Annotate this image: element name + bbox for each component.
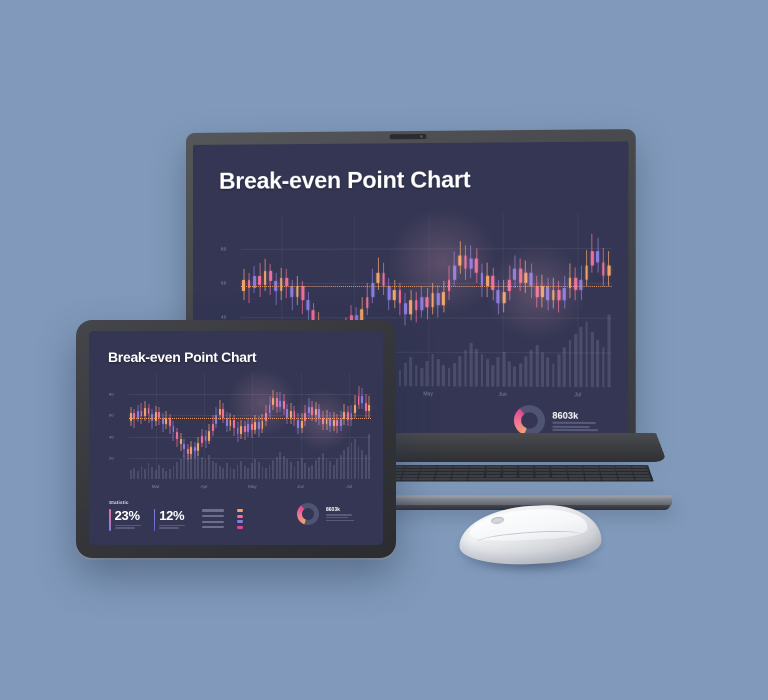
candle-body <box>262 421 264 429</box>
candle-body <box>580 279 583 289</box>
candlestick <box>464 214 467 387</box>
candlestick <box>459 214 462 387</box>
candle-body <box>426 297 429 307</box>
candle-body <box>155 412 157 420</box>
candlestick <box>155 373 157 479</box>
keyboard-key[interactable] <box>421 466 436 468</box>
candle-body <box>315 409 317 415</box>
keyboard-key[interactable] <box>569 478 585 480</box>
x-axis-label: Jul <box>574 392 581 398</box>
keyboard-key[interactable] <box>405 466 420 468</box>
candlestick <box>318 373 320 479</box>
candle-body <box>420 297 423 311</box>
keyboard-key[interactable] <box>583 466 598 468</box>
candlestick <box>607 213 610 387</box>
candle-body <box>222 409 224 417</box>
candlestick <box>437 214 440 386</box>
candlestick <box>333 373 335 479</box>
stat-accent-bar <box>109 509 111 531</box>
candle-body <box>208 431 210 441</box>
candle-body <box>382 273 385 287</box>
candle-body <box>318 409 320 417</box>
candlestick <box>262 373 264 479</box>
keyboard-key[interactable] <box>502 475 517 477</box>
candle-body <box>290 286 293 296</box>
candlestick <box>290 373 292 479</box>
candlestick <box>497 214 500 387</box>
webcam-icon <box>390 134 427 139</box>
candlestick <box>442 214 445 386</box>
candlestick <box>269 373 271 479</box>
legend-item <box>202 520 243 523</box>
candle-body <box>176 432 178 438</box>
keyboard-key[interactable] <box>435 478 451 480</box>
keyboard-key[interactable] <box>419 475 435 477</box>
keyboard-key[interactable] <box>632 469 648 471</box>
candle-body <box>264 271 267 285</box>
candle-body <box>409 300 412 314</box>
keyboard-key[interactable] <box>468 478 567 480</box>
candle-body <box>296 286 299 296</box>
candle-body <box>393 290 396 300</box>
keyboard-key[interactable] <box>632 466 648 468</box>
candle-body <box>336 420 338 426</box>
candle-body <box>280 278 283 292</box>
keyboard-key[interactable] <box>453 472 468 474</box>
candle-body <box>197 443 199 451</box>
keyboard-key[interactable] <box>421 469 436 471</box>
candlestick <box>591 213 594 387</box>
candle-body <box>371 283 374 297</box>
candle-body <box>574 278 577 290</box>
candle-body <box>377 273 380 283</box>
candlestick <box>201 373 203 479</box>
candle-body <box>276 398 278 406</box>
candlestick <box>552 213 555 387</box>
donut-summary: 8603k <box>514 405 598 436</box>
keyboard-key[interactable] <box>618 475 634 477</box>
candlestick <box>141 373 143 479</box>
candle-body <box>453 266 456 280</box>
candlestick <box>265 373 267 479</box>
candle-body <box>459 255 462 265</box>
keyboard-key[interactable] <box>453 469 468 471</box>
candlestick <box>226 373 228 479</box>
candle-body <box>190 447 192 453</box>
keyboard-key[interactable] <box>600 469 615 471</box>
candle-body <box>358 396 360 404</box>
keyboard-key[interactable] <box>486 466 501 468</box>
keyboard-key[interactable] <box>454 466 469 468</box>
candlestick <box>272 373 274 479</box>
candlestick <box>415 214 418 386</box>
candle-body <box>480 273 483 287</box>
keyboard-key[interactable] <box>470 466 485 468</box>
candlestick <box>173 373 175 479</box>
candlestick <box>361 373 363 479</box>
keyboard-key[interactable] <box>567 469 582 471</box>
candle-body <box>286 409 288 417</box>
keyboard-key[interactable] <box>438 466 453 468</box>
candlestick <box>297 373 299 479</box>
donut-chart-icon <box>297 503 319 525</box>
x-axis-label: Jul <box>346 484 352 489</box>
candlestick <box>541 214 544 387</box>
candlestick <box>546 213 549 386</box>
keyboard-key[interactable] <box>615 466 630 468</box>
keyboard-key[interactable] <box>436 475 452 477</box>
keyboard-key[interactable] <box>552 475 567 477</box>
legend-dot <box>237 526 243 529</box>
keyboard-key[interactable] <box>469 475 484 477</box>
candlestick <box>602 213 605 387</box>
legend-label <box>202 526 224 528</box>
candlestick <box>399 214 402 386</box>
candlestick <box>240 373 242 479</box>
keyboard-row <box>388 469 648 471</box>
candle-body <box>311 407 313 415</box>
candle-body <box>535 286 538 296</box>
candlestick <box>180 373 182 479</box>
candlestick <box>194 373 196 479</box>
candle-body <box>415 300 418 310</box>
x-axis-label: May <box>423 391 433 397</box>
candlestick <box>535 214 538 387</box>
candle-body <box>475 259 478 273</box>
keyboard-key[interactable] <box>469 472 484 474</box>
breakeven-line <box>129 418 371 419</box>
candlestick <box>343 373 345 479</box>
candlestick <box>286 373 288 479</box>
keyboard-key[interactable] <box>418 478 434 480</box>
keyboard-key[interactable] <box>519 466 534 468</box>
donut-value: 8603k <box>326 507 354 513</box>
candle-body <box>233 420 235 428</box>
legend-dot <box>237 515 243 518</box>
keyboard-key[interactable] <box>485 475 500 477</box>
keyboard-key[interactable] <box>535 472 550 474</box>
keyboard-key[interactable] <box>551 466 566 468</box>
keyboard-key[interactable] <box>599 466 614 468</box>
candlestick <box>133 373 135 479</box>
candle-wick <box>134 409 135 428</box>
candlestick <box>453 214 456 387</box>
candlestick <box>237 373 239 479</box>
legend-dot <box>237 520 243 523</box>
candlestick <box>151 373 153 479</box>
candle-body <box>308 407 310 413</box>
candlestick <box>513 214 516 387</box>
stat-accent-bar <box>154 509 156 531</box>
candle-body <box>329 418 331 426</box>
candlestick <box>215 373 217 479</box>
candlestick <box>294 373 296 479</box>
legend-item <box>202 509 243 512</box>
keyboard-key[interactable] <box>551 472 566 474</box>
candlestick <box>205 373 207 479</box>
candle-body <box>297 420 299 428</box>
keyboard-key[interactable] <box>634 475 650 477</box>
candlestick <box>365 373 367 479</box>
candlestick <box>340 373 342 479</box>
candlestick <box>347 373 349 479</box>
legend-item <box>202 526 243 529</box>
keyboard-key[interactable] <box>486 472 501 474</box>
candlestick <box>208 373 210 479</box>
keyboard-key[interactable] <box>502 466 517 468</box>
page-title: Break-even Point Chart <box>219 166 470 195</box>
candle-body <box>219 409 221 415</box>
keyboard-row <box>387 472 649 474</box>
keyboard-key[interactable] <box>436 472 451 474</box>
tablet-screen: Break-even Point Chart 80604020MarAprMay… <box>89 331 383 545</box>
keyboard-key[interactable] <box>568 472 583 474</box>
keyboard-key[interactable] <box>567 466 582 468</box>
candle-body <box>437 293 440 305</box>
candle-body <box>258 276 261 285</box>
keyboard-key[interactable] <box>585 478 601 480</box>
keyboard-key[interactable] <box>486 469 501 471</box>
candle-wick <box>248 273 249 304</box>
candlestick <box>368 373 370 479</box>
y-axis-label: 60 <box>221 280 226 285</box>
candle-body <box>141 411 143 416</box>
candlestick <box>251 373 253 479</box>
candlestick <box>308 373 310 479</box>
candlestick <box>426 214 429 386</box>
candlestick <box>469 214 472 387</box>
candle-body <box>442 292 445 306</box>
keyboard-key[interactable] <box>502 472 517 474</box>
candlestick <box>558 213 561 387</box>
candle-body <box>596 252 599 262</box>
candle-body <box>552 290 555 300</box>
x-axis-label: Apr <box>201 484 208 489</box>
donut-chart-icon <box>514 405 545 436</box>
candle-body <box>365 403 367 411</box>
candle-body <box>333 420 335 426</box>
keyboard-key[interactable] <box>602 478 618 480</box>
y-axis-label: 80 <box>221 246 226 251</box>
keyboard-key[interactable] <box>519 472 534 474</box>
keyboard-row <box>386 475 651 477</box>
keyboard-key[interactable] <box>601 472 617 474</box>
candle-body <box>144 408 146 416</box>
tablet-device: Break-even Point Chart 80604020MarAprMay… <box>76 320 396 558</box>
candlestick <box>233 373 235 479</box>
candlestick <box>486 214 489 387</box>
keyboard-key[interactable] <box>519 475 534 477</box>
candle-body <box>269 405 271 413</box>
keyboard-key[interactable] <box>601 475 617 477</box>
keyboard-key[interactable] <box>617 472 633 474</box>
candlestick <box>148 373 150 479</box>
keyboard-key[interactable] <box>452 478 468 480</box>
candlestick <box>169 373 171 479</box>
legend-label <box>202 509 224 511</box>
candle-body <box>173 426 175 432</box>
candle-body <box>272 398 274 404</box>
candlestick <box>354 373 356 479</box>
candlestick <box>409 214 412 386</box>
candle-body <box>524 272 527 282</box>
candle-body <box>404 304 407 314</box>
candle-body <box>205 436 207 441</box>
candle-body <box>226 418 228 426</box>
keyboard-key[interactable] <box>403 472 419 474</box>
candlestick <box>137 373 139 479</box>
candle-body <box>502 292 505 304</box>
x-axis-label: Mar <box>152 484 160 489</box>
y-axis-label: 40 <box>109 434 114 439</box>
candle-body <box>361 396 363 402</box>
candlestick <box>190 373 192 479</box>
candle-body <box>530 272 533 286</box>
keyboard-key[interactable] <box>551 469 566 471</box>
candle-body <box>486 276 489 286</box>
candle-body <box>558 290 561 300</box>
candlestick <box>322 373 324 479</box>
tablet-dashboard: Break-even Point Chart 80604020MarAprMay… <box>89 331 383 545</box>
candle-body <box>351 413 353 419</box>
candle-body <box>546 286 549 300</box>
candle-body <box>187 449 189 453</box>
keyboard-key[interactable] <box>470 469 485 471</box>
candle-body <box>201 436 203 443</box>
laptop-keyboard[interactable] <box>382 465 654 482</box>
candle-body <box>368 405 370 411</box>
candle-body <box>148 408 150 414</box>
candlestick <box>304 373 306 479</box>
keyboard-key[interactable] <box>633 472 649 474</box>
candlestick <box>563 213 566 387</box>
y-axis-label: 60 <box>109 413 114 418</box>
keyboard-key[interactable] <box>437 469 452 471</box>
candle-body <box>607 265 610 275</box>
keyboard-key[interactable] <box>616 469 632 471</box>
candle-body <box>180 439 182 444</box>
candlestick <box>183 373 185 479</box>
candlestick <box>212 373 214 479</box>
candle-body <box>244 426 246 432</box>
keyboard-key[interactable] <box>420 472 436 474</box>
candlestick <box>431 214 434 386</box>
candlestick <box>530 214 533 387</box>
stat-value: 23% <box>115 509 141 522</box>
candlestick <box>279 373 281 479</box>
candlestick <box>448 214 451 387</box>
keyboard-key[interactable] <box>502 469 517 471</box>
candlestick <box>519 214 522 387</box>
candlestick <box>130 373 132 479</box>
legend-label <box>202 521 224 523</box>
candlestick <box>158 373 160 479</box>
legend-label <box>202 515 224 517</box>
x-axis: MarAprMayJunJul <box>129 481 371 495</box>
candlestick <box>197 373 199 479</box>
candle-body <box>269 271 272 281</box>
keyboard-key[interactable] <box>535 469 550 471</box>
keyboard-key[interactable] <box>404 469 420 471</box>
candlestick <box>247 373 249 479</box>
x-axis-label: Jun <box>297 484 304 489</box>
candlestick <box>311 373 313 479</box>
legend-item <box>202 515 243 518</box>
candlestick <box>162 373 164 479</box>
keyboard-key[interactable] <box>535 475 550 477</box>
candle-body <box>591 252 594 266</box>
keyboard-key[interactable] <box>402 475 418 477</box>
chart-legend <box>202 509 243 529</box>
keyboard-key[interactable] <box>635 478 651 480</box>
keyboard-key[interactable] <box>452 475 468 477</box>
candle-body <box>194 447 196 451</box>
candlestick <box>580 213 583 387</box>
candlestick <box>301 373 303 479</box>
candlestick <box>254 373 256 479</box>
keyboard-key[interactable] <box>585 475 601 477</box>
candlestick <box>336 373 338 479</box>
candlestick <box>524 214 527 387</box>
y-axis-label: 40 <box>221 315 226 320</box>
candlestick <box>315 373 317 479</box>
candle-body <box>307 300 310 310</box>
candle-body <box>541 286 544 296</box>
candlestick <box>283 373 285 479</box>
keyboard-key[interactable] <box>519 469 534 471</box>
candle-series <box>129 373 371 479</box>
page-title: Break-even Point Chart <box>108 349 256 365</box>
keyboard-key[interactable] <box>535 466 550 468</box>
candle-body <box>340 419 342 426</box>
candlestick <box>329 373 331 479</box>
y-axis-label: 20 <box>109 455 114 460</box>
candlestick <box>258 373 260 479</box>
candlestick <box>222 373 224 479</box>
candlestick <box>351 373 353 479</box>
keyboard-row <box>389 466 647 468</box>
candle-body <box>399 290 402 304</box>
candlestick <box>480 214 483 387</box>
candle-body <box>469 259 472 269</box>
candle-body <box>513 269 516 279</box>
candle-body <box>563 288 566 300</box>
candle-body <box>279 401 281 407</box>
candlestick <box>585 213 588 387</box>
candle-body <box>491 276 494 290</box>
candlestick <box>502 214 505 387</box>
candlestick <box>475 214 478 387</box>
candle-body <box>230 420 232 426</box>
keyboard-row <box>385 478 652 480</box>
keyboard-key[interactable] <box>619 478 635 480</box>
candlestick <box>144 373 146 479</box>
keyboard-key[interactable] <box>401 478 417 480</box>
y-axis-label: 80 <box>109 392 114 397</box>
candlestick <box>276 373 278 479</box>
keyboard-key[interactable] <box>568 475 584 477</box>
stat-card: 23% <box>109 509 141 531</box>
candle-body <box>301 286 304 300</box>
candlestick <box>404 214 407 386</box>
candlestick <box>244 373 246 479</box>
candle-body <box>247 424 249 432</box>
computer-mouse[interactable] <box>455 500 605 578</box>
candle-body <box>519 269 522 283</box>
keyboard-key[interactable] <box>584 472 599 474</box>
keyboard-key[interactable] <box>584 469 599 471</box>
candle-body <box>431 293 434 307</box>
